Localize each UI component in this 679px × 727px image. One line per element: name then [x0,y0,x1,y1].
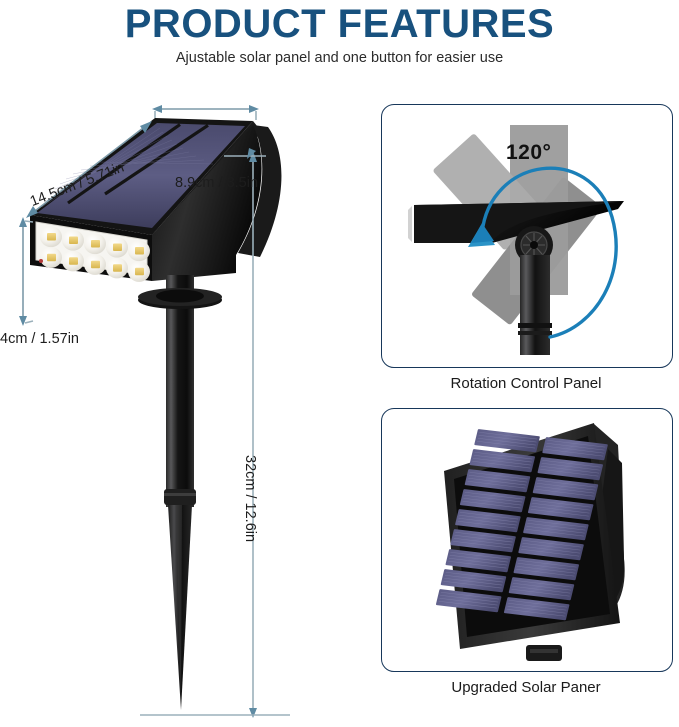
rotation-angle-label: 120° [506,141,551,165]
page-subtitle: Ajustable solar panel and one button for… [0,48,679,68]
solar-panel-illustration [382,409,672,671]
dimension-label-head-height: 4cm / 1.57in [0,331,79,347]
product-illustration: 8.9cm / 3.5in 14.5cm / 5.71in 4cm / 1.57… [0,85,360,722]
caption-rotation-control-panel: Rotation Control Panel [381,375,671,392]
card-upgraded-solar-panel [381,408,673,672]
caption-upgraded-solar-panel: Upgraded Solar Paner [381,679,671,696]
dimension-label-width: 8.9cm / 3.5in [175,175,258,191]
solar-panel-drawing [382,409,670,669]
product-features-infographic: PRODUCT FEATURES Ajustable solar panel a… [0,0,679,722]
page-title: PRODUCT FEATURES [0,2,679,46]
ground-stake [138,275,222,710]
card-rotation-control-panel: 120° [381,104,673,368]
dimension-label-total-height: 32cm / 12.6in [242,455,258,542]
